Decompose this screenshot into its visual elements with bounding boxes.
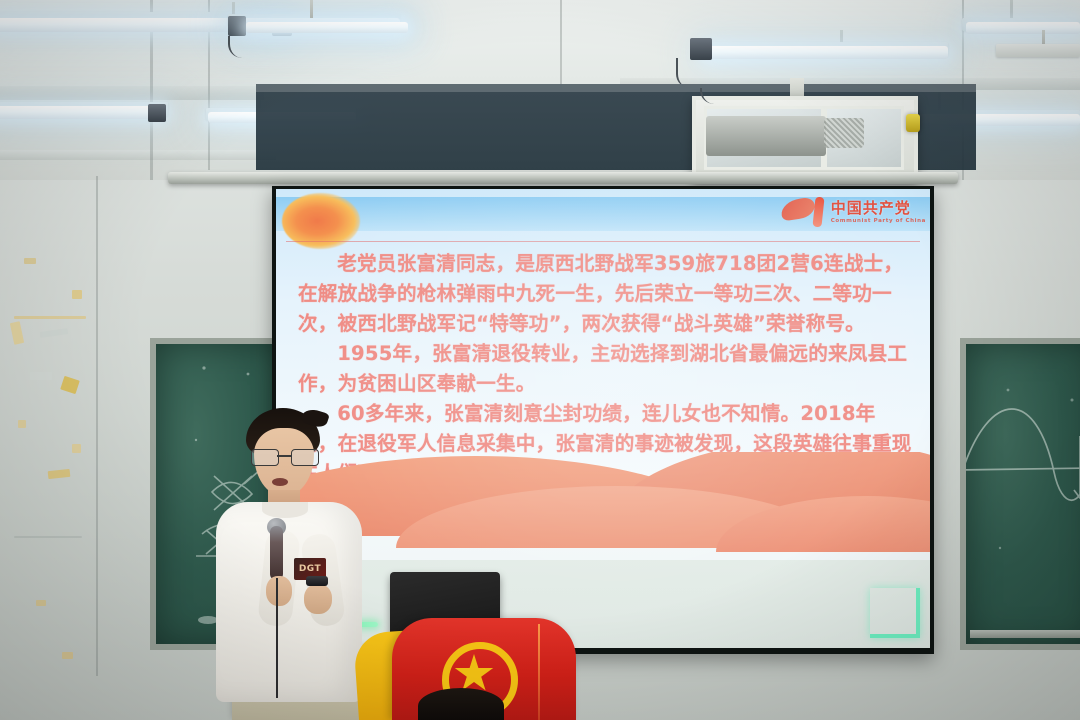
chalk-tray bbox=[970, 630, 1080, 638]
projector-body bbox=[706, 116, 826, 156]
flag-fold bbox=[538, 624, 540, 720]
wall-seam bbox=[560, 0, 562, 90]
cpc-logo-name: 中国共产党 bbox=[831, 201, 926, 216]
light-housing bbox=[996, 44, 1080, 57]
tape-residue bbox=[72, 444, 81, 453]
fluorescent-tube bbox=[0, 106, 166, 119]
tape-residue bbox=[24, 258, 36, 264]
presenter: DGT bbox=[210, 408, 370, 720]
panel-trim bbox=[256, 84, 976, 92]
tape-residue bbox=[18, 420, 26, 428]
chalk-marks-right bbox=[966, 344, 1080, 644]
cpc-logo: 中国共产党 Communist Party of China bbox=[781, 195, 926, 229]
light-ballast bbox=[148, 104, 166, 122]
tape-residue bbox=[14, 316, 86, 319]
tape-residue bbox=[62, 652, 73, 659]
microphone bbox=[270, 526, 283, 580]
corner-accent-icon bbox=[870, 588, 920, 638]
chalkboard-right bbox=[960, 338, 1080, 650]
tape-residue bbox=[14, 536, 82, 538]
padlock-icon bbox=[906, 114, 920, 132]
projection-screen-roller bbox=[168, 172, 958, 184]
ceiling-beam bbox=[0, 86, 264, 100]
fluorescent-tube bbox=[966, 22, 1080, 34]
tape-residue bbox=[36, 600, 46, 606]
fluorescent-tube bbox=[246, 22, 408, 33]
presenter-hand-left bbox=[266, 576, 292, 606]
light-ballast bbox=[228, 16, 246, 36]
projector-vent bbox=[824, 118, 864, 148]
presenter-mouth bbox=[272, 478, 288, 486]
microphone-cord bbox=[276, 578, 278, 698]
tape-residue bbox=[30, 372, 52, 380]
slide-paragraph: 1955年，张富清退役转业，主动选择到湖北省最偏远的来凤县工作，为贫困山区奉献一… bbox=[298, 339, 914, 399]
hammer-and-sickle-icon bbox=[781, 195, 827, 229]
ceiling-projector-cage bbox=[692, 96, 918, 182]
ceiling-beam bbox=[0, 150, 276, 160]
wall-seam bbox=[96, 176, 98, 676]
classroom-photo: 中国共产党 Communist Party of China 老党员张富清同志，… bbox=[0, 0, 1080, 720]
cpc-logo-subtitle: Communist Party of China bbox=[831, 218, 926, 224]
presenter-hand-right bbox=[304, 584, 332, 614]
shirt-collar bbox=[262, 502, 308, 518]
glasses-icon bbox=[251, 449, 317, 464]
wristwatch bbox=[306, 576, 328, 586]
student-head bbox=[418, 688, 504, 720]
light-hanger bbox=[310, 0, 313, 18]
fluorescent-tube bbox=[704, 46, 948, 59]
light-hanger bbox=[1010, 0, 1013, 20]
light-ballast bbox=[690, 38, 712, 60]
tape-residue bbox=[72, 290, 82, 299]
slide-paragraph: 老党员张富清同志，是原西北野战军359旅718团2营6连战士，在解放战争的枪林弹… bbox=[298, 249, 914, 339]
slide-landscape bbox=[276, 452, 930, 562]
slide-divider bbox=[286, 241, 920, 242]
projection-screen: 中国共产党 Communist Party of China 老党员张富清同志，… bbox=[276, 189, 930, 648]
